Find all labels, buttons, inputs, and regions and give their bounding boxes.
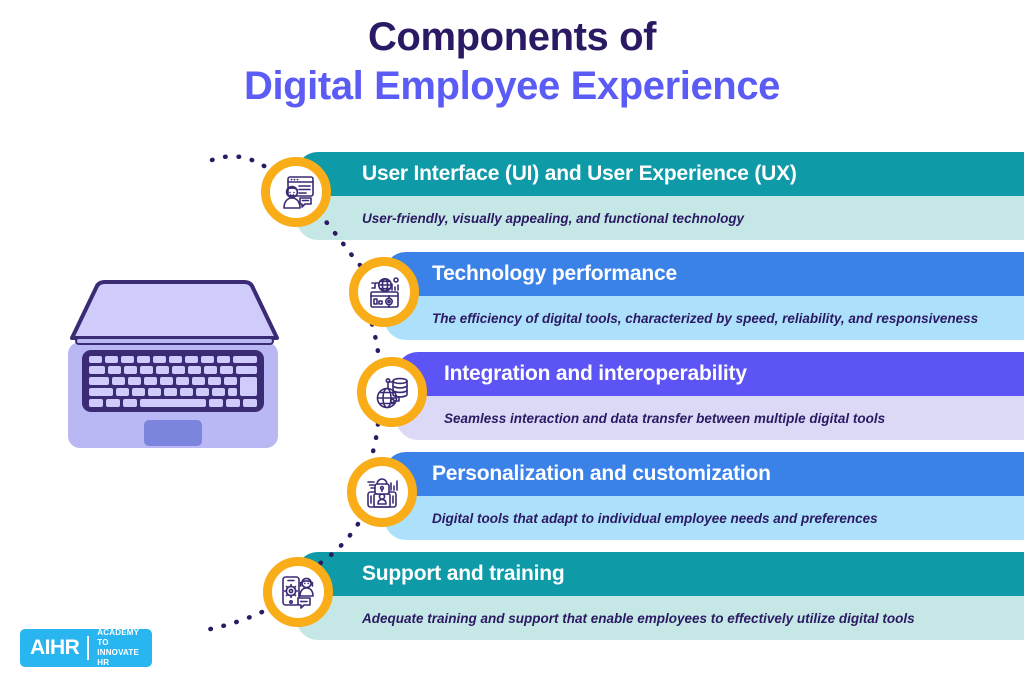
component-3-title: Integration and interoperability [444, 362, 747, 386]
logo-divider [87, 636, 89, 660]
performance-analytics-icon-badge [349, 257, 419, 327]
laptop-illustration [48, 276, 298, 456]
title-line-1: Components of [0, 16, 1024, 59]
logo-wordmark: AIHR [20, 636, 79, 660]
component-5-description-area: Adequate training and support that enabl… [296, 596, 1024, 640]
user-interface-icon [274, 170, 318, 214]
component-4-header: Personalization and customization [384, 452, 1024, 496]
component-row-2: Technology performance The efficiency of… [384, 252, 1024, 340]
component-5-header: Support and training [296, 552, 1024, 596]
component-2-description: The efficiency of digital tools, charact… [432, 311, 978, 326]
user-interface-icon-badge [261, 157, 331, 227]
support-headset-icon-badge [263, 557, 333, 627]
component-2-title: Technology performance [432, 262, 677, 286]
profile-lock-device-icon-badge [347, 457, 417, 527]
component-3-description: Seamless interaction and data transfer b… [444, 411, 885, 426]
component-1-description: User-friendly, visually appealing, and f… [362, 211, 744, 226]
component-2-description-area: The efficiency of digital tools, charact… [384, 296, 1024, 340]
page-title: Components of Digital Employee Experienc… [0, 16, 1024, 108]
component-1-header: User Interface (UI) and User Experience … [296, 152, 1024, 196]
title-line-2: Digital Employee Experience [0, 65, 1024, 108]
component-4-description: Digital tools that adapt to individual e… [432, 511, 878, 526]
logo-tagline-line-2: INNOVATE HR [97, 648, 152, 668]
component-2-header: Technology performance [384, 252, 1024, 296]
logo-tagline: ACADEMY TO INNOVATE HR [97, 628, 152, 668]
component-row-3: Integration and interoperability Seamles… [396, 352, 1024, 440]
component-4-title: Personalization and customization [432, 462, 771, 486]
component-5-title: Support and training [362, 562, 564, 586]
globe-database-icon [370, 370, 414, 414]
component-3-description-area: Seamless interaction and data transfer b… [396, 396, 1024, 440]
globe-database-icon-badge [357, 357, 427, 427]
component-1-description-area: User-friendly, visually appealing, and f… [296, 196, 1024, 240]
component-5-description: Adequate training and support that enabl… [362, 611, 915, 626]
aihr-logo[interactable]: AIHR ACADEMY TO INNOVATE HR [20, 629, 152, 667]
component-row-1: User Interface (UI) and User Experience … [296, 152, 1024, 240]
component-row-4: Personalization and customization Digita… [384, 452, 1024, 540]
logo-tagline-line-1: ACADEMY TO [97, 628, 152, 648]
component-3-header: Integration and interoperability [396, 352, 1024, 396]
infographic-canvas: Components of Digital Employee Experienc… [0, 0, 1024, 680]
component-1-title: User Interface (UI) and User Experience … [362, 162, 797, 186]
performance-analytics-icon [362, 270, 406, 314]
profile-lock-device-icon [360, 470, 404, 514]
component-4-description-area: Digital tools that adapt to individual e… [384, 496, 1024, 540]
component-row-5: Support and training Adequate training a… [296, 552, 1024, 640]
support-headset-icon [276, 570, 320, 614]
